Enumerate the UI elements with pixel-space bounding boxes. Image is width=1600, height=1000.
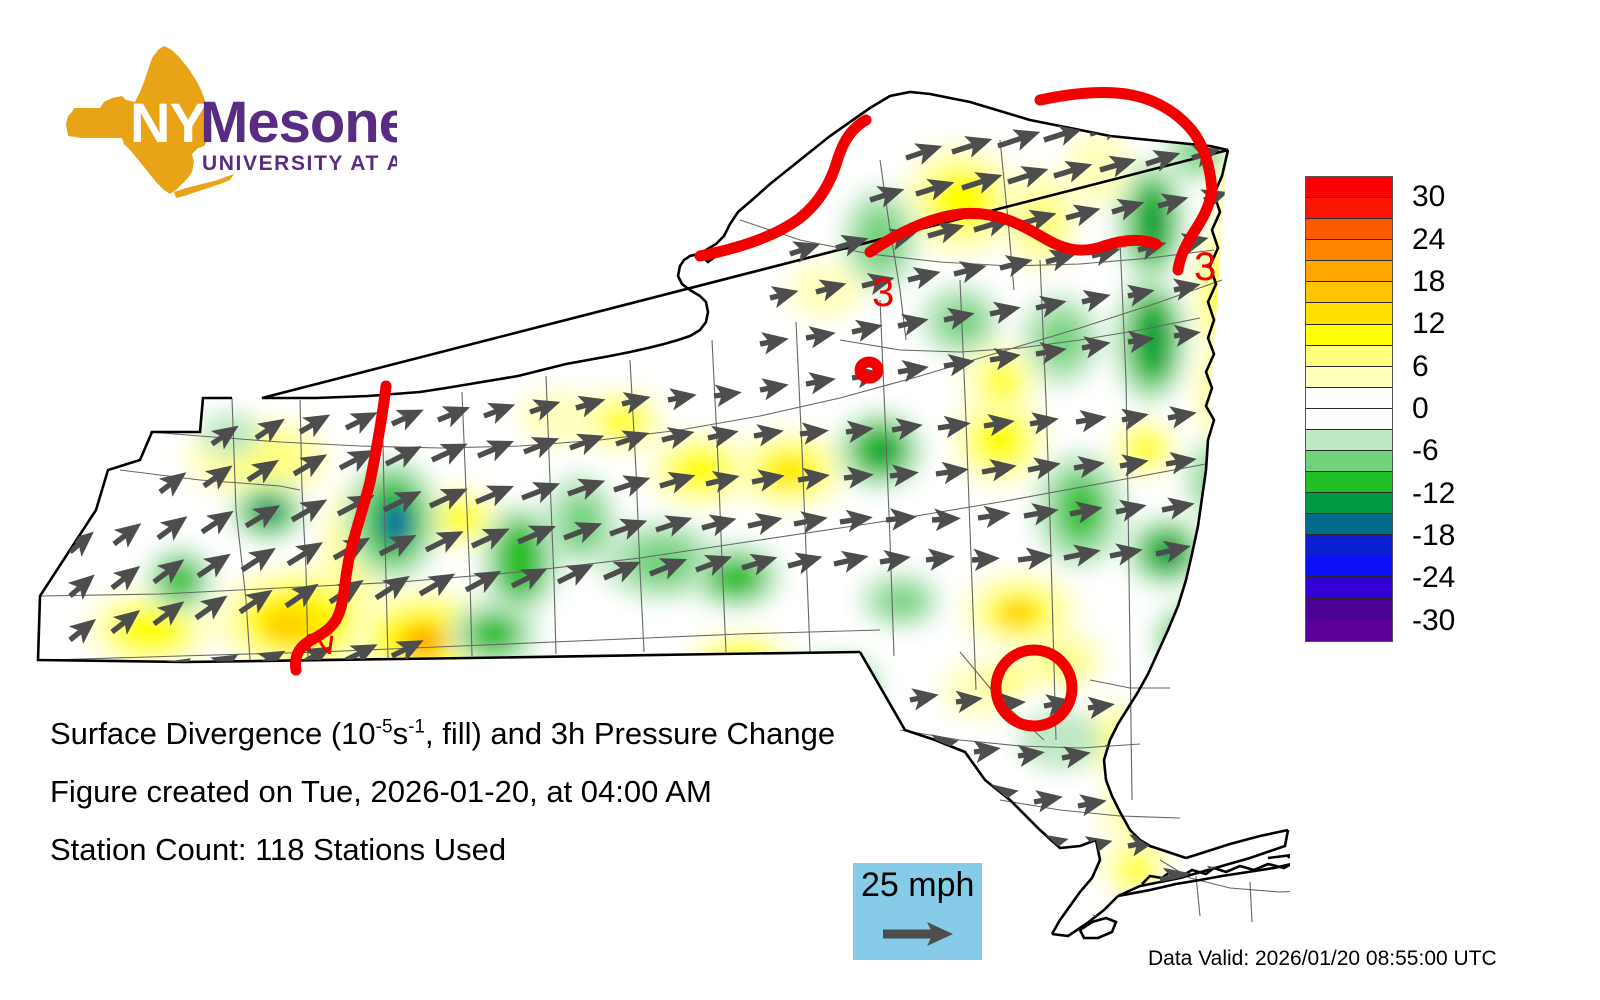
colorbar-tick--24: -24 xyxy=(1412,563,1455,593)
colorbar-band-11 xyxy=(1306,409,1392,430)
colorbar-band-7 xyxy=(1306,325,1392,346)
caption-title-suffix: , fill) and 3h Pressure Change xyxy=(425,716,835,751)
colorbar-band-14 xyxy=(1306,472,1392,493)
colorbar-band-3 xyxy=(1306,240,1392,261)
colorbar-band-9 xyxy=(1306,367,1392,388)
caption-created: Figure created on Tue, 2026-01-20, at 04… xyxy=(50,776,950,807)
caption-title-mid: s xyxy=(393,716,409,751)
colorbar-band-1 xyxy=(1306,198,1392,219)
colorbar-band-13 xyxy=(1306,451,1392,472)
colorbar-band-0 xyxy=(1306,177,1392,198)
colorbar-band-12 xyxy=(1306,430,1392,451)
colorbar-band-2 xyxy=(1306,219,1392,240)
colorbar-band-5 xyxy=(1306,282,1392,303)
data-valid-timestamp: Data Valid: 2026/01/20 08:55:00 UTC xyxy=(1148,948,1497,969)
colorbar-tick-labels: 3024181260-6-12-18-24-30 xyxy=(1412,176,1522,642)
colorbar-tick-6: 6 xyxy=(1412,352,1429,382)
caption-title: Surface Divergence (10-5s-1, fill) and 3… xyxy=(50,718,950,749)
colorbar-band-10 xyxy=(1306,388,1392,409)
colorbar-tick--18: -18 xyxy=(1412,521,1455,551)
colorbar-band-19 xyxy=(1306,577,1392,598)
caption-exp-1: -5 xyxy=(376,717,393,738)
colorbar-band-18 xyxy=(1306,556,1392,577)
colorbar-tick--6: -6 xyxy=(1412,436,1439,466)
contour-label-3a: 3 xyxy=(872,271,894,315)
wind-key-arrow-icon xyxy=(881,919,957,949)
colorbar-tick-12: 12 xyxy=(1412,309,1445,339)
divergence-colorbar xyxy=(1305,176,1393,642)
colorbar-band-20 xyxy=(1306,599,1392,620)
weather-map-figure: NYS Mesonet UNIVERSITY AT ALBANY xyxy=(0,0,1600,1000)
colorbar-tick-24: 24 xyxy=(1412,225,1445,255)
caption-station-count: Station Count: 118 Stations Used xyxy=(50,834,950,865)
colorbar-tick-0: 0 xyxy=(1412,394,1429,424)
colorbar-tick-18: 18 xyxy=(1412,267,1445,297)
wind-key-label: 25 mph xyxy=(861,865,974,905)
colorbar-band-15 xyxy=(1306,493,1392,514)
caption-exp-2: -1 xyxy=(408,717,425,738)
colorbar-tick-30: 30 xyxy=(1412,182,1445,212)
colorbar-band-6 xyxy=(1306,303,1392,324)
caption-title-prefix: Surface Divergence (10 xyxy=(50,716,376,751)
colorbar-band-21 xyxy=(1306,620,1392,641)
colorbar-band-16 xyxy=(1306,514,1392,535)
colorbar-band-4 xyxy=(1306,261,1392,282)
contour-label-3b: 3 xyxy=(1194,245,1216,289)
colorbar-tick--12: -12 xyxy=(1412,479,1455,509)
figure-captions: Surface Divergence (10-5s-1, fill) and 3… xyxy=(50,718,950,892)
colorbar-tick--30: -30 xyxy=(1412,606,1455,636)
wind-speed-key: 25 mph xyxy=(853,863,982,960)
colorbar-band-8 xyxy=(1306,346,1392,367)
colorbar-band-17 xyxy=(1306,535,1392,556)
